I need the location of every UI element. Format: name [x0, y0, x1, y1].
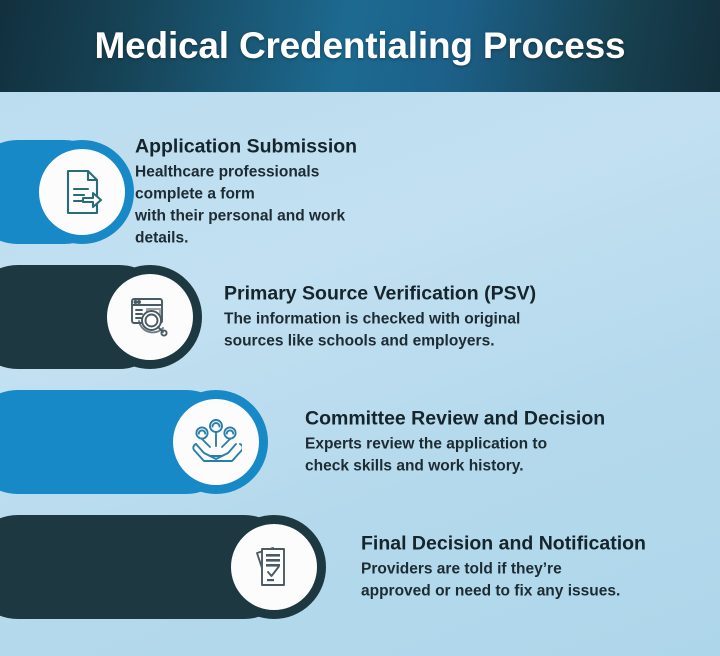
step-3-text-block: Committee Review and Decision Experts re… — [305, 406, 605, 477]
step-2-title: Primary Source Verification (PSV) — [224, 281, 536, 305]
step-1-text-block: Application Submission Healthcare profes… — [135, 134, 357, 249]
step-4-description: Providers are told if they’re approved o… — [361, 559, 646, 603]
documents-check-icon — [248, 541, 300, 593]
step-1-description: Healthcare professionals complete a form… — [135, 162, 357, 250]
header-banner: Medical Credentialing Process — [0, 0, 720, 92]
step-4-icon-badge — [222, 515, 326, 619]
page-title: Medical Credentialing Process — [95, 25, 626, 67]
step-3-title: Committee Review and Decision — [305, 406, 605, 430]
document-arrow-icon — [55, 165, 109, 219]
document-magnifier-icon — [123, 290, 177, 344]
step-2-text-block: Primary Source Verification (PSV) The in… — [224, 281, 536, 352]
step-4-text-block: Final Decision and Notification Provider… — [361, 531, 646, 602]
step-2-icon-badge — [98, 265, 202, 369]
infographic-canvas: Medical Credentialing Process Applicatio… — [0, 0, 720, 656]
hands-people-icon — [190, 416, 242, 468]
step-2-description: The information is checked with original… — [224, 309, 536, 353]
step-3-icon-badge — [164, 390, 268, 494]
step-3-description: Experts review the application to check … — [305, 434, 605, 478]
step-1-title: Application Submission — [135, 134, 357, 158]
step-1-icon-badge — [30, 140, 134, 244]
step-4-title: Final Decision and Notification — [361, 531, 646, 555]
